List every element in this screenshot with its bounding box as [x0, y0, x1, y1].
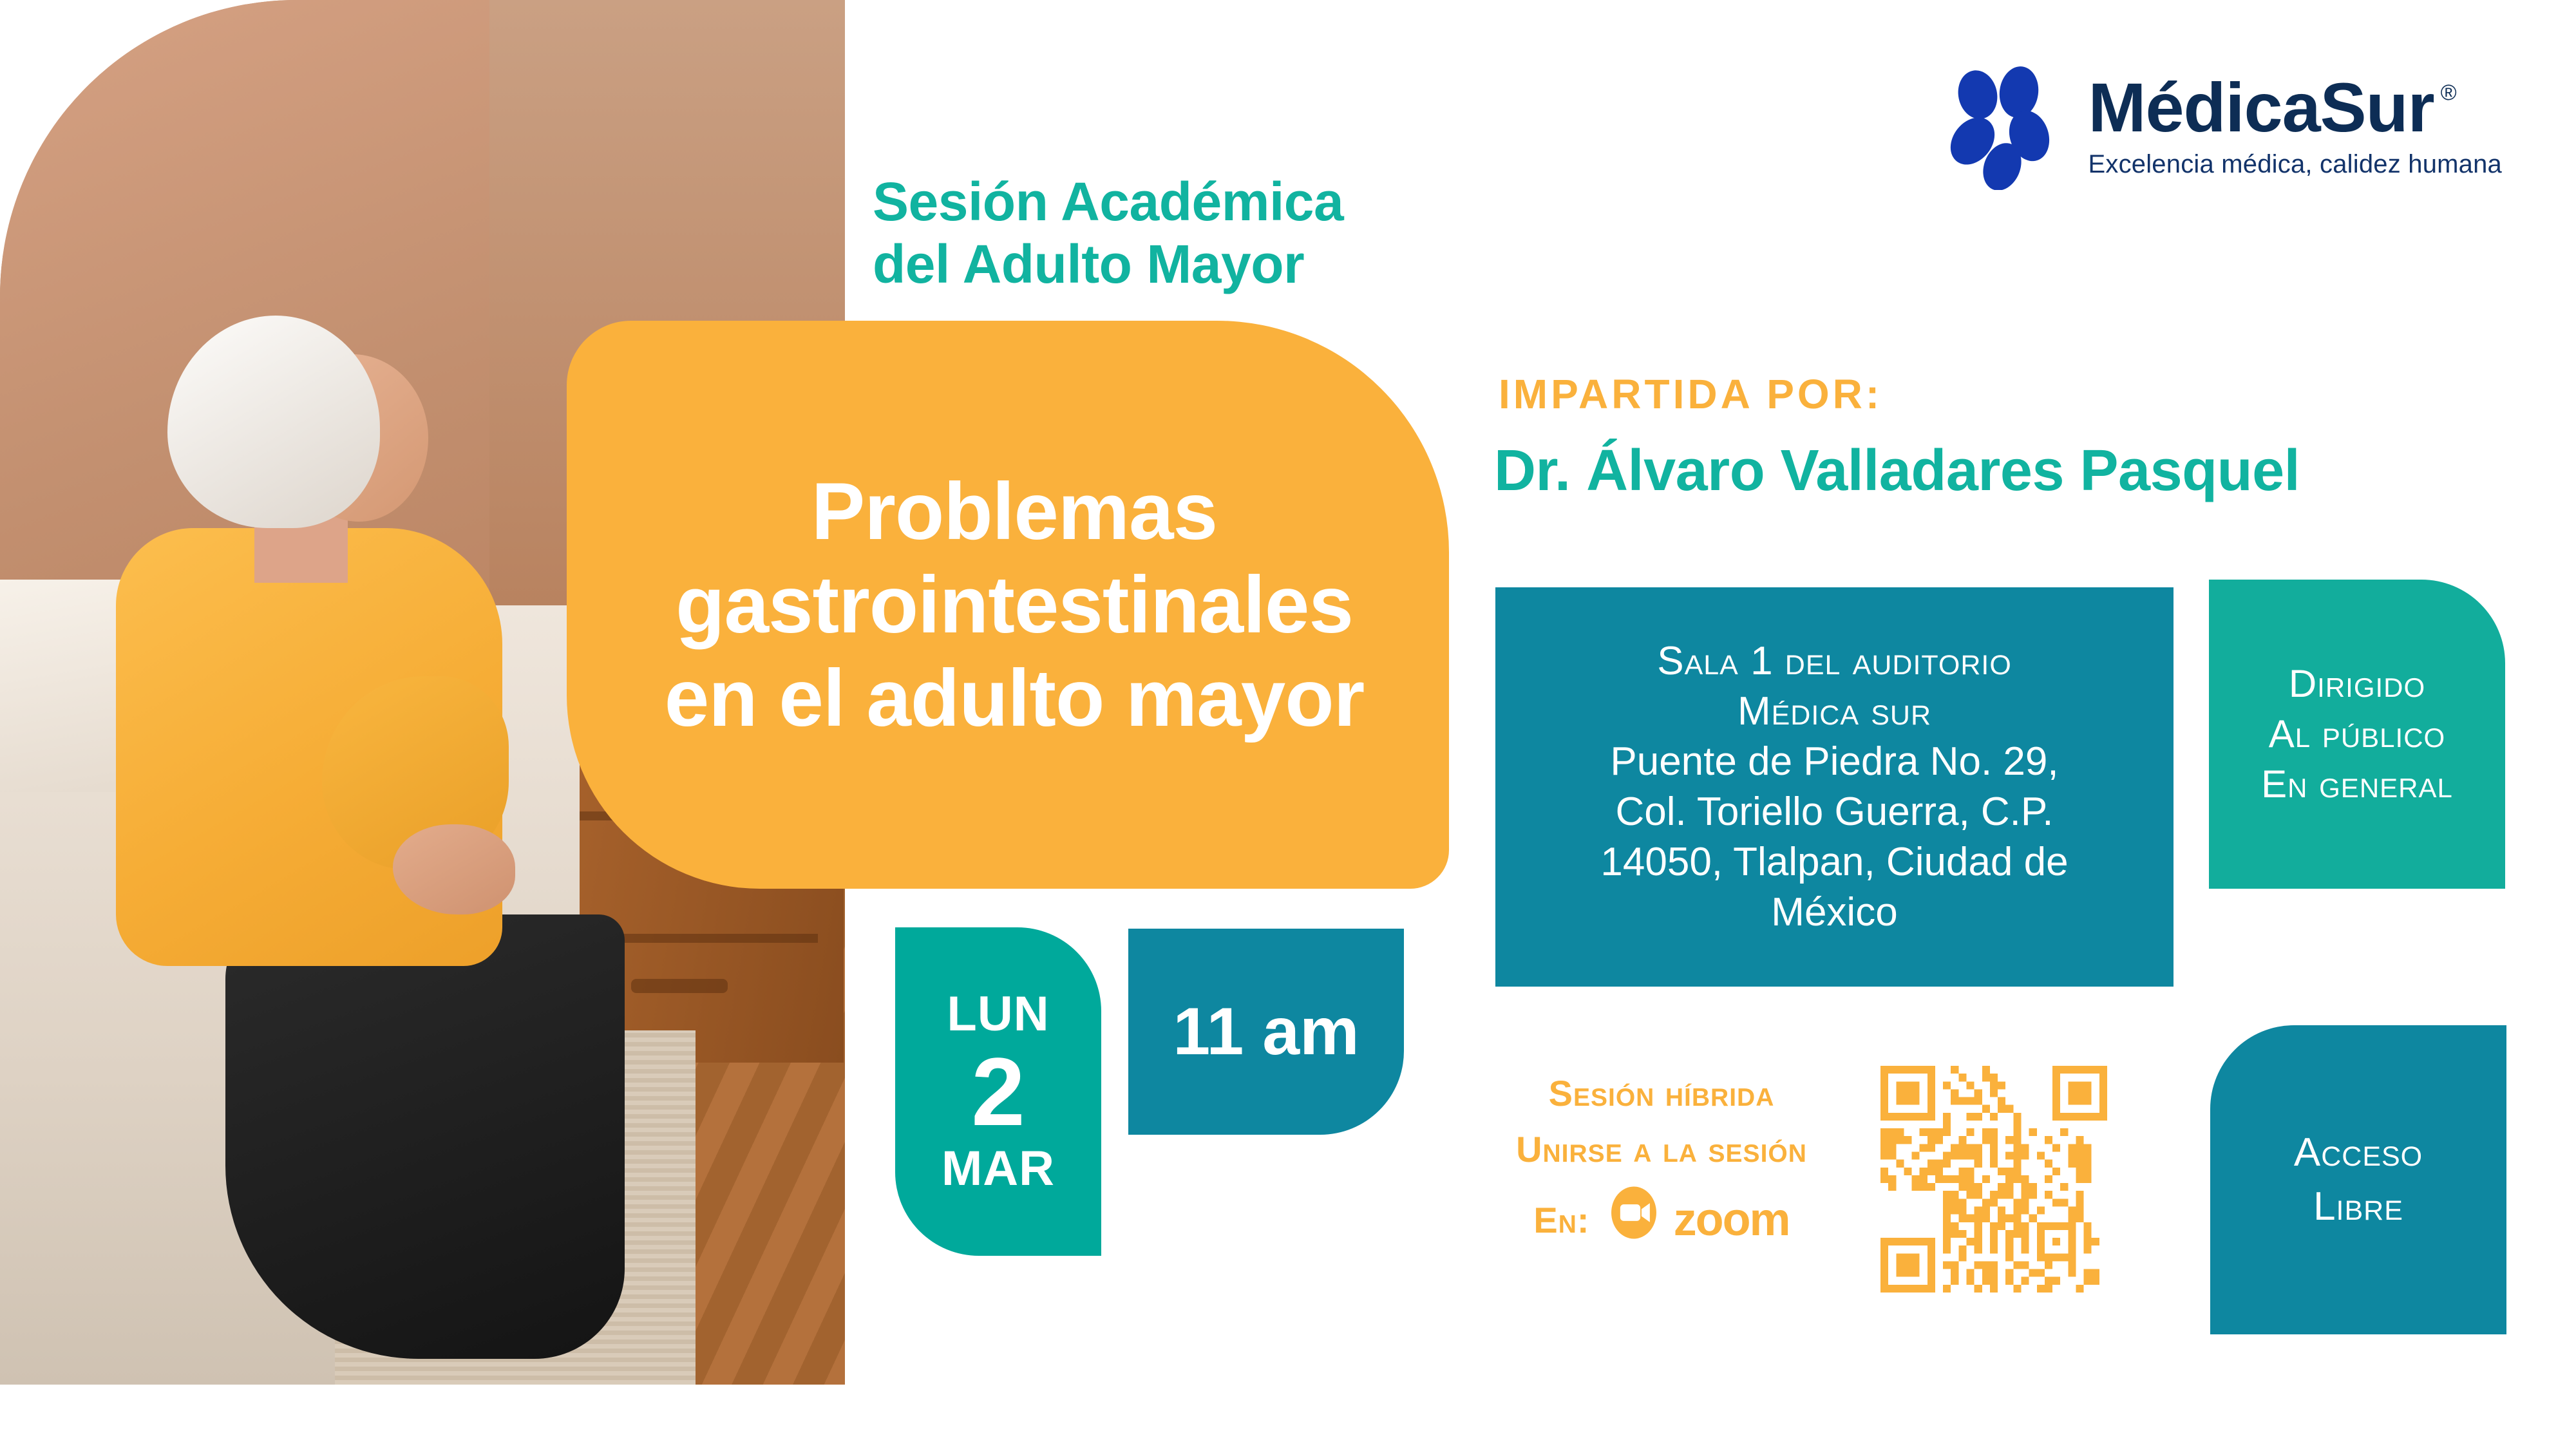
audience-line-1: Dirigido — [2261, 659, 2453, 709]
online-line-1: Sesión híbrida — [1468, 1066, 1855, 1122]
date-day-of-week: LUN — [947, 990, 1049, 1039]
access-line-2: libre — [2294, 1180, 2423, 1234]
title-line-3: en el adulto mayor — [665, 652, 1364, 745]
logo-name-text: MédicaSur — [2088, 73, 2434, 142]
date-badge: LUN 2 MAR — [895, 927, 1101, 1256]
venue-box: Sala 1 del Auditorio Médica Sur Puente d… — [1495, 587, 2173, 987]
speaker-label: IMPARTIDA POR: — [1499, 370, 1882, 418]
logo-wordmark: MédicaSur ® — [2088, 73, 2503, 142]
access-badge: Acceso libre — [2210, 1025, 2506, 1334]
venue-line-2: Médica Sur — [1738, 687, 1931, 737]
logo-tagline: Excelencia médica, calidez humana — [2088, 150, 2503, 179]
online-line-3: en: — [1533, 1193, 1589, 1249]
audience-badge: Dirigido al público en general — [2209, 580, 2505, 889]
photo-drawer-handle — [631, 979, 728, 993]
venue-line-1: Sala 1 del Auditorio — [1657, 636, 2012, 687]
audience-line-2: al público — [2261, 709, 2453, 759]
page-title: Problemas gastrointestinales en el adult… — [626, 465, 1390, 745]
zoom-camera-icon — [1604, 1183, 1663, 1258]
zoom-wordmark: zoom — [1674, 1184, 1790, 1256]
time-badge: 11 am — [1128, 929, 1404, 1135]
audience-line-3: en general — [2261, 759, 2453, 810]
photo-person-legs — [225, 914, 625, 1359]
online-access-block: Sesión híbrida unirse a la sesión en: zo… — [1468, 1066, 1855, 1258]
kicker-line-2: del Adulto Mayor — [873, 233, 1343, 296]
kicker-line-1: Sesión Académica — [873, 171, 1343, 233]
photo-person-hair — [167, 316, 380, 528]
zoom-link[interactable]: zoom — [1604, 1183, 1790, 1258]
venue-line-6: México — [1771, 887, 1897, 938]
qr-code-icon[interactable] — [1880, 1066, 2107, 1293]
title-line-1: Problemas — [665, 465, 1364, 558]
title-line-2: gastrointestinales — [665, 558, 1364, 652]
date-month: MAR — [942, 1144, 1055, 1193]
medicasur-logo: MédicaSur ® Excelencia médica, calidez h… — [1942, 61, 2503, 190]
series-kicker: Sesión Académica del Adulto Mayor — [873, 171, 1343, 295]
photo-person — [116, 316, 618, 1385]
venue-line-3: Puente de Piedra No. 29, — [1610, 737, 2058, 787]
access-line-1: Acceso — [2294, 1126, 2423, 1180]
online-line-2: unirse a la sesión — [1468, 1122, 1855, 1178]
medicasur-petals-icon — [1942, 61, 2070, 190]
venue-line-5: 14050, Tlalpan, Ciudad de — [1600, 837, 2068, 887]
title-card: Problemas gastrointestinales en el adult… — [567, 321, 1449, 889]
date-day-number: 2 — [971, 1041, 1025, 1143]
venue-line-4: Col. Toriello Guerra, C.P. — [1615, 787, 2053, 837]
logo-registered-mark: ® — [2441, 82, 2456, 104]
speaker-name: Dr. Álvaro Valladares Pasquel — [1494, 438, 2300, 504]
